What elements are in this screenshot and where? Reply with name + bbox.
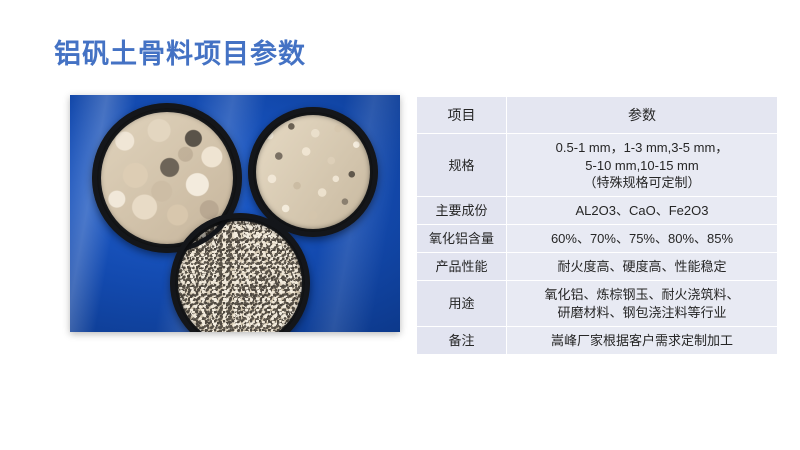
table-row: 备注 嵩峰厂家根据客户需求定制加工 — [417, 326, 778, 354]
value-line: 耐火度高、硬度高、性能稳定 — [511, 258, 773, 275]
table-header-row: 项目 参数 — [417, 97, 778, 134]
row-value-remark: 嵩峰厂家根据客户需求定制加工 — [507, 326, 778, 354]
fine-aggregate-fill — [178, 221, 302, 332]
table-row: 氧化铝含量 60%、70%、75%、80%、85% — [417, 225, 778, 253]
medium-aggregate-bowl — [248, 107, 378, 237]
table-row: 主要成份 AL2O3、CaO、Fe2O3 — [417, 196, 778, 224]
table-row: 规格 0.5-1 mm，1-3 mm,3-5 mm， 5-10 mm,10-15… — [417, 134, 778, 196]
row-label-remark: 备注 — [417, 326, 507, 354]
value-line: 0.5-1 mm，1-3 mm,3-5 mm， — [511, 139, 773, 156]
specification-table: 项目 参数 规格 0.5-1 mm，1-3 mm,3-5 mm， 5-10 mm… — [416, 96, 778, 355]
row-value-usage: 氧化铝、炼棕钢玉、耐火浇筑料、 研磨材料、钢包浇注料等行业 — [507, 281, 778, 326]
value-line: （特殊规格可定制） — [511, 174, 773, 191]
row-value-composition: AL2O3、CaO、Fe2O3 — [507, 196, 778, 224]
table-row: 产品性能 耐火度高、硬度高、性能稳定 — [417, 253, 778, 281]
row-label-usage: 用途 — [417, 281, 507, 326]
value-line: 氧化铝、炼棕钢玉、耐火浇筑料、 — [511, 286, 773, 303]
value-line: 嵩峰厂家根据客户需求定制加工 — [511, 332, 773, 349]
row-value-spec: 0.5-1 mm，1-3 mm,3-5 mm， 5-10 mm,10-15 mm… — [507, 134, 778, 196]
page-title: 铝矾土骨料项目参数 — [54, 39, 306, 70]
value-line: 60%、70%、75%、80%、85% — [511, 230, 773, 247]
header-item: 项目 — [417, 97, 507, 134]
value-line: 5-10 mm,10-15 mm — [511, 157, 773, 174]
medium-aggregate-fill — [256, 115, 370, 229]
row-label-composition: 主要成份 — [417, 196, 507, 224]
header-parameter: 参数 — [507, 97, 778, 134]
product-photo — [70, 95, 400, 332]
row-label-performance: 产品性能 — [417, 253, 507, 281]
row-value-alumina-content: 60%、70%、75%、80%、85% — [507, 225, 778, 253]
value-line: AL2O3、CaO、Fe2O3 — [511, 202, 773, 219]
value-line: 研磨材料、钢包浇注料等行业 — [511, 304, 773, 321]
table-row: 用途 氧化铝、炼棕钢玉、耐火浇筑料、 研磨材料、钢包浇注料等行业 — [417, 281, 778, 326]
row-label-alumina-content: 氧化铝含量 — [417, 225, 507, 253]
row-label-spec: 规格 — [417, 134, 507, 196]
row-value-performance: 耐火度高、硬度高、性能稳定 — [507, 253, 778, 281]
